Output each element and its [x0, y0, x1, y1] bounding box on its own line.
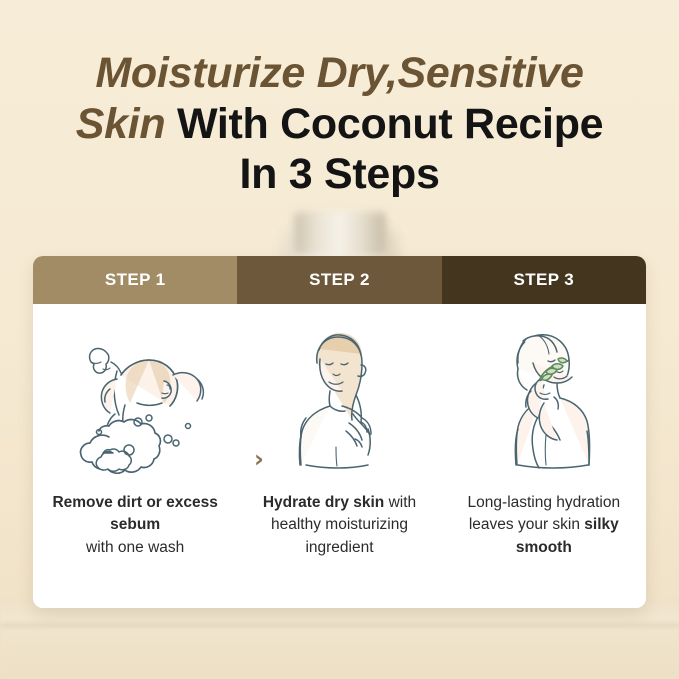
counter-edge — [0, 624, 679, 627]
step-2-caption-bold: Hydrate dry skin — [263, 494, 384, 511]
title-line3-plain: In 3 Steps — [239, 150, 439, 198]
step-3-panel: Long-lasting hydration leaves your skin … — [442, 304, 646, 608]
woman-in-towel-holding-hair-icon — [247, 318, 431, 478]
step-1-panel: Remove dirt or excess sebum with one was… — [33, 304, 237, 608]
step-1-caption: Remove dirt or excess sebum with one was… — [43, 492, 227, 559]
step-1-caption-bold: Remove dirt or excess sebum — [52, 494, 217, 533]
step-3-header: STEP 3 — [442, 256, 646, 304]
title-line2-plain: With Coconut Recipe — [165, 100, 603, 148]
step-2-header-label: STEP 2 — [309, 270, 370, 290]
step-1-header-label: STEP 1 — [105, 270, 166, 290]
step-2-caption: Hydrate dry skin with healthy moisturizi… — [247, 492, 431, 559]
woman-washing-with-foam-icon — [43, 318, 227, 478]
step-3-header-label: STEP 3 — [513, 270, 574, 290]
step-1-caption-regular: with one wash — [86, 539, 184, 556]
step-1-header: STEP 1 — [33, 256, 237, 304]
title-line2-emphasis: Skin — [76, 100, 166, 148]
step-3-caption: Long-lasting hydration leaves your skin … — [452, 492, 636, 559]
step-body-row: Remove dirt or excess sebum with one was… — [33, 304, 646, 608]
woman-with-hair-towel-holding-leaf-icon — [452, 318, 636, 478]
step-2-panel: Hydrate dry skin with healthy moisturizi… — [237, 304, 441, 608]
steps-card: STEP 1 STEP 2 STEP 3 — [33, 256, 646, 608]
title-line1-emphasis: Moisturize Dry,Sensitive — [95, 49, 583, 97]
step-header-row: STEP 1 STEP 2 STEP 3 — [33, 256, 646, 304]
counter-surface — [0, 600, 679, 679]
page-title: Moisturize Dry,Sensitive Skin With Cocon… — [0, 48, 679, 200]
step-2-header: STEP 2 — [237, 256, 441, 304]
product-bottle-cap-icon — [294, 212, 386, 254]
